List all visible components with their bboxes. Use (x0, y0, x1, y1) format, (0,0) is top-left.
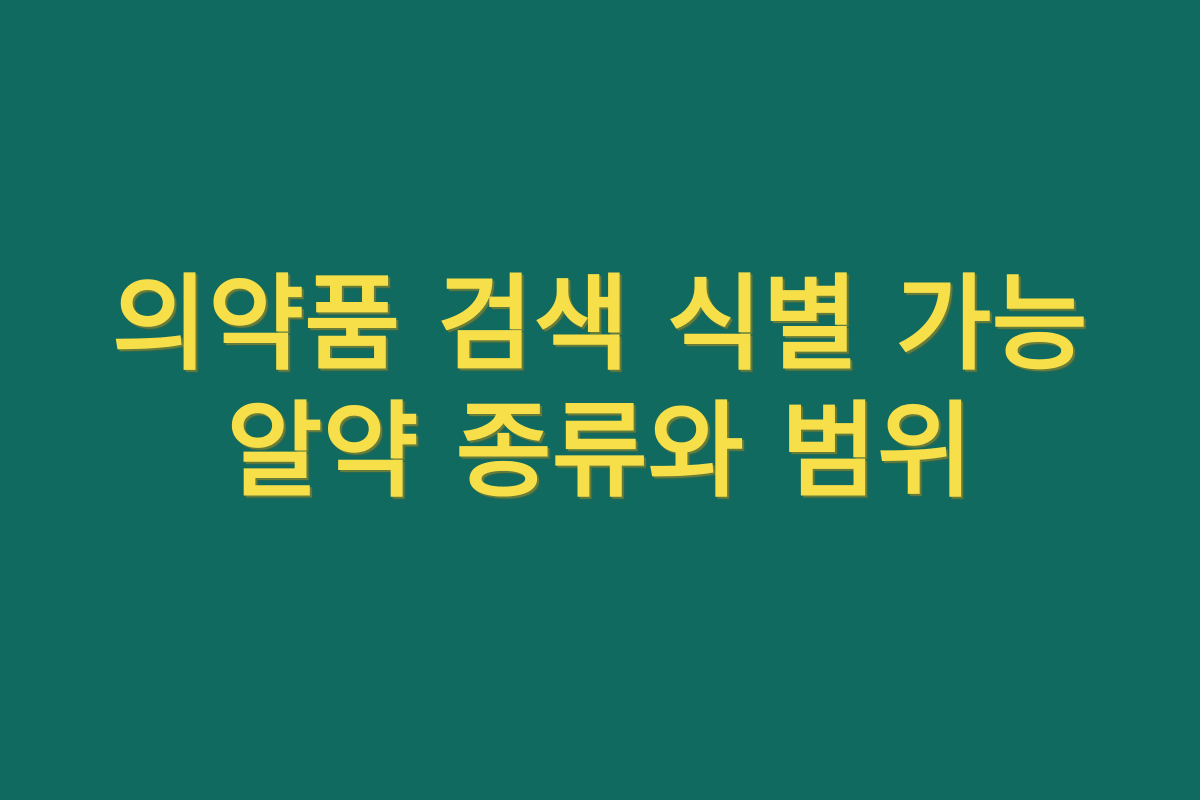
headline-block: 의약품 검색 식별 가능 알약 종류와 범위 (0, 261, 1200, 515)
headline-line-2: 알약 종류와 범위 (0, 388, 1200, 515)
headline-line-1: 의약품 검색 식별 가능 (0, 261, 1200, 388)
banner-canvas: 의약품 검색 식별 가능 알약 종류와 범위 (0, 0, 1200, 800)
